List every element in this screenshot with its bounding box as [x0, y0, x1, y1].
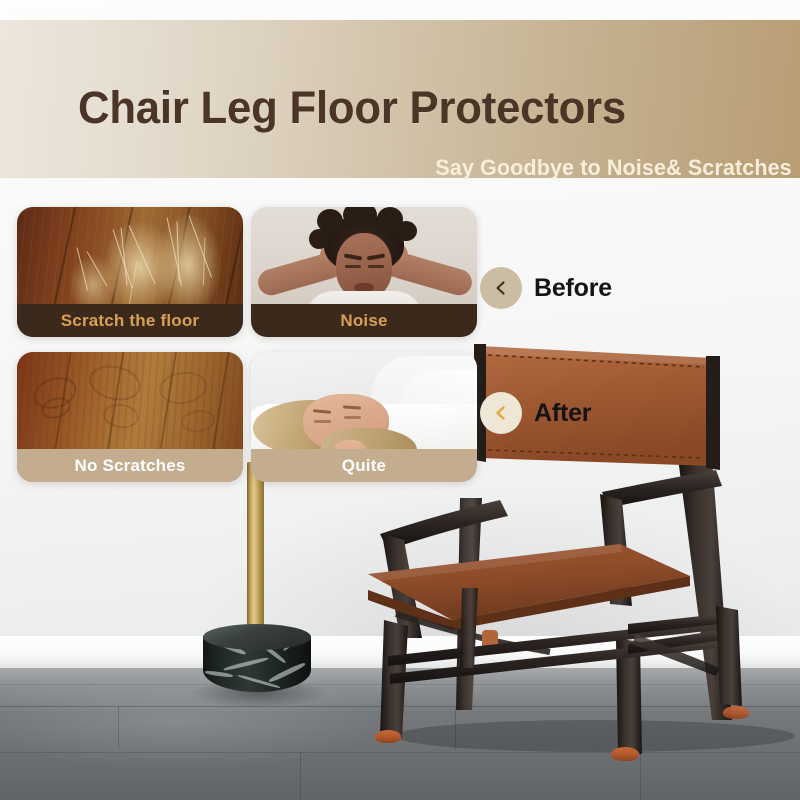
after-card-no-scratches[interactable]: No Scratches [17, 352, 243, 482]
chevron-left-icon [480, 267, 522, 309]
after-card-quiet[interactable]: Quite [251, 352, 477, 482]
after-badge: After [480, 392, 591, 434]
floor-plank-seam [118, 706, 119, 748]
page-title: Chair Leg Floor Protectors [78, 82, 626, 134]
card-caption: Scratch the floor [17, 304, 243, 337]
chair-leg-protector-cap [375, 730, 401, 743]
before-card-noise[interactable]: Noise [251, 207, 477, 337]
lamp-marble-base [203, 624, 311, 702]
lamp-pole [247, 462, 264, 650]
card-caption: No Scratches [17, 449, 243, 482]
card-caption: Quite [251, 449, 477, 482]
product-marketing-image: Chair Leg Floor Protectors Say Goodbye t… [0, 0, 800, 800]
before-badge: Before [480, 267, 612, 309]
floor-plank-seam [300, 752, 301, 800]
before-card-scratch[interactable]: Scratch the floor [17, 207, 243, 337]
chair-leg-protector-cap [723, 706, 749, 719]
after-label: After [534, 399, 591, 428]
chevron-left-icon [480, 392, 522, 434]
chair-leg-protector-cap [611, 747, 639, 761]
header-banner: Chair Leg Floor Protectors Say Goodbye t… [0, 20, 800, 178]
page-subtitle: Say Goodbye to Noise& Scratches [435, 155, 792, 181]
before-label: Before [534, 274, 612, 303]
lamp-base-top [203, 624, 311, 650]
card-caption: Noise [251, 304, 477, 337]
